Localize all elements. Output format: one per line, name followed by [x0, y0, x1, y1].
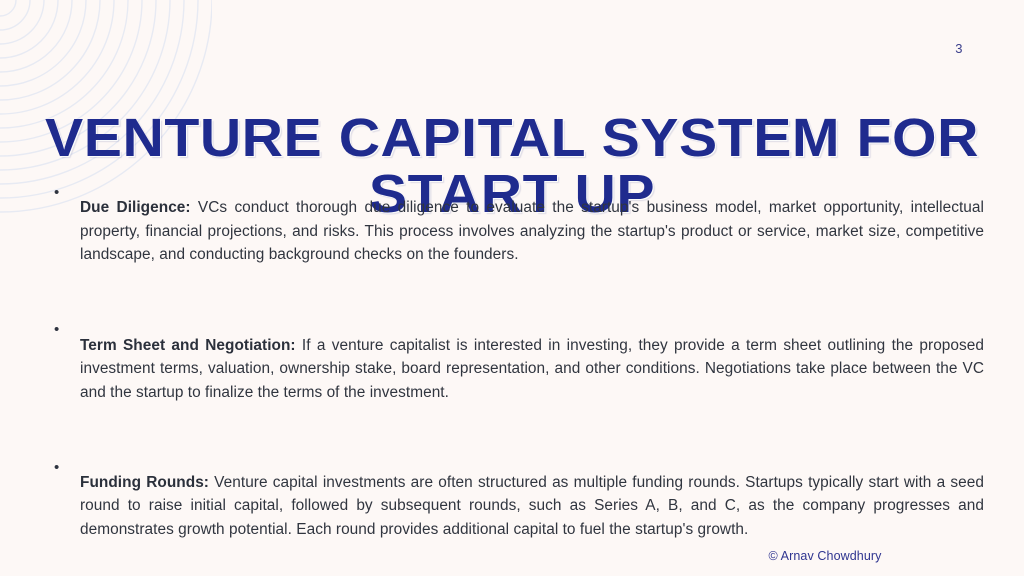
bullet-paragraph: Due Diligence: VCs conduct thorough due …: [80, 196, 984, 267]
list-item: • Funding Rounds: Venture capital invest…: [40, 456, 984, 557]
bullet-lead-label: Due Diligence:: [80, 199, 191, 216]
list-item: • Due Diligence: VCs conduct thorough du…: [40, 181, 984, 282]
bullet-body-text: Venture capital investments are often st…: [80, 474, 984, 538]
slide-canvas: 3 VENTURE CAPITAL SYSTEM FOR START UP • …: [0, 0, 1024, 576]
page-number: 3: [930, 41, 988, 56]
bullet-paragraph: Funding Rounds: Venture capital investme…: [80, 471, 984, 542]
bullet-lead-label: Funding Rounds:: [80, 474, 209, 491]
bullet-lead-label: Term Sheet and Negotiation:: [80, 337, 296, 354]
bullet-paragraph: Term Sheet and Negotiation: If a venture…: [80, 334, 984, 405]
bullet-dot-icon: •: [40, 181, 80, 205]
list-item: • Term Sheet and Negotiation: If a ventu…: [40, 318, 984, 419]
bullet-body-text: VCs conduct thorough due diligence to ev…: [80, 199, 984, 263]
copyright-credit: © Arnav Chowdhury: [700, 549, 950, 563]
bullet-dot-icon: •: [40, 456, 80, 480]
bullet-list: • Due Diligence: VCs conduct thorough du…: [40, 181, 984, 557]
bullet-dot-icon: •: [40, 318, 80, 342]
